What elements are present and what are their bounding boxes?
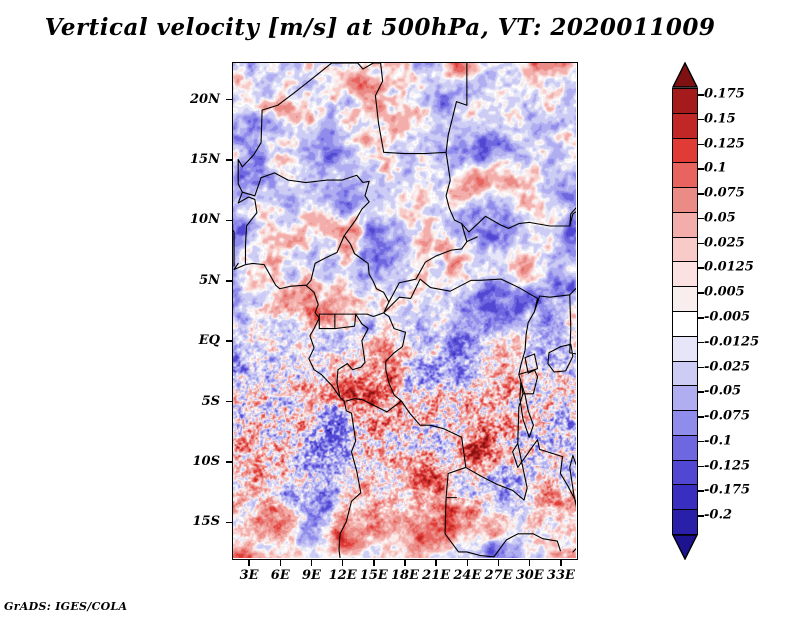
lon-tick (467, 560, 469, 566)
colorbar-swatch (672, 286, 698, 312)
colorbar-tick (698, 144, 704, 146)
colorbar-label: 0.125 (704, 136, 745, 151)
colorbar-tick (698, 466, 704, 468)
lon-tick (280, 560, 282, 566)
lon-tick (248, 560, 250, 566)
lat-tick (226, 401, 232, 403)
colorbar-tick (698, 267, 704, 269)
colorbar-tick (698, 94, 704, 96)
lat-label-15N: 15N (172, 152, 220, 167)
colorbar-swatch (672, 460, 698, 486)
colorbar-label: 0.1 (704, 161, 727, 176)
colorbar-swatch (672, 311, 698, 337)
colorbar-tick (698, 490, 704, 492)
colorbar-swatch (672, 113, 698, 139)
colorbar-swatch (672, 162, 698, 188)
colorbar-tick (698, 416, 704, 418)
lat-label-EQ: EQ (172, 333, 220, 348)
lon-tick (529, 560, 531, 566)
lat-label-5N: 5N (172, 273, 220, 288)
colorbar-min-arrow (672, 534, 698, 560)
colorbar-tick (698, 193, 704, 195)
lat-label-10N: 10N (172, 212, 220, 227)
lon-tick (435, 560, 437, 566)
colorbar-label: 0.005 (704, 285, 745, 300)
colorbar-label: -0.125 (704, 458, 750, 473)
country-borders-overlay (233, 63, 576, 558)
colorbar-swatch (672, 410, 698, 436)
colorbar-swatch (672, 261, 698, 287)
colorbar-label: 0.025 (704, 235, 745, 250)
colorbar-swatch (672, 187, 698, 213)
colorbar-label: -0.005 (704, 310, 750, 325)
colorbar-label: -0.05 (704, 384, 741, 399)
colorbar-label: -0.025 (704, 359, 750, 374)
lat-tick (226, 280, 232, 282)
lat-label-20N: 20N (172, 92, 220, 107)
lon-tick (342, 560, 344, 566)
map-plot-area (232, 62, 578, 560)
colorbar-swatch (672, 385, 698, 411)
colorbar-swatch (672, 435, 698, 461)
lat-tick (226, 522, 232, 524)
colorbar-tick (698, 243, 704, 245)
lon-tick (404, 560, 406, 566)
colorbar-swatch (672, 88, 698, 114)
border-path (233, 63, 576, 558)
lon-tick (311, 560, 313, 566)
lat-tick (226, 220, 232, 222)
colorbar-tick (698, 515, 704, 517)
colorbar-tick (698, 292, 704, 294)
colorbar-label: 0.175 (704, 87, 745, 102)
colorbar-tick (698, 119, 704, 121)
colorbar-label: -0.075 (704, 409, 750, 424)
colorbar-tick (698, 168, 704, 170)
colorbar-max-arrow (672, 62, 698, 88)
lat-tick (226, 99, 232, 101)
page-title: Vertical velocity [m/s] at 500hPa, VT: 2… (0, 14, 760, 41)
colorbar-label: 0.15 (704, 111, 736, 126)
colorbar-tick (698, 342, 704, 344)
colorbar-tick (698, 317, 704, 319)
colorbar-tick (698, 218, 704, 220)
colorbar-swatch (672, 237, 698, 263)
colorbar-swatch (672, 336, 698, 362)
lat-label-10S: 10S (172, 454, 220, 469)
lat-tick (226, 159, 232, 161)
colorbar-tick (698, 441, 704, 443)
colorbar-swatch (672, 212, 698, 238)
colorbar-label: 0.075 (704, 186, 745, 201)
lon-label-33E: 33E (541, 568, 581, 583)
colorbar-label: -0.2 (704, 508, 732, 523)
colorbar: 0.1750.150.1250.10.0750.050.0250.01250.0… (672, 62, 698, 560)
colorbar-label: -0.1 (704, 433, 732, 448)
footer-credit: GrADS: IGES/COLA (4, 600, 127, 613)
colorbar-tick (698, 391, 704, 393)
colorbar-label: -0.175 (704, 483, 750, 498)
lon-tick (498, 560, 500, 566)
lat-label-5S: 5S (172, 394, 220, 409)
colorbar-label: 0.0125 (704, 260, 754, 275)
colorbar-swatch (672, 138, 698, 164)
colorbar-label: 0.05 (704, 210, 736, 225)
lat-label-15S: 15S (172, 514, 220, 529)
colorbar-label: -0.0125 (704, 334, 759, 349)
lon-tick (560, 560, 562, 566)
colorbar-swatch (672, 361, 698, 387)
lat-tick (226, 340, 232, 342)
colorbar-swatch (672, 509, 698, 535)
colorbar-tick (698, 367, 704, 369)
lon-tick (373, 560, 375, 566)
colorbar-swatch (672, 484, 698, 510)
lat-tick (226, 461, 232, 463)
